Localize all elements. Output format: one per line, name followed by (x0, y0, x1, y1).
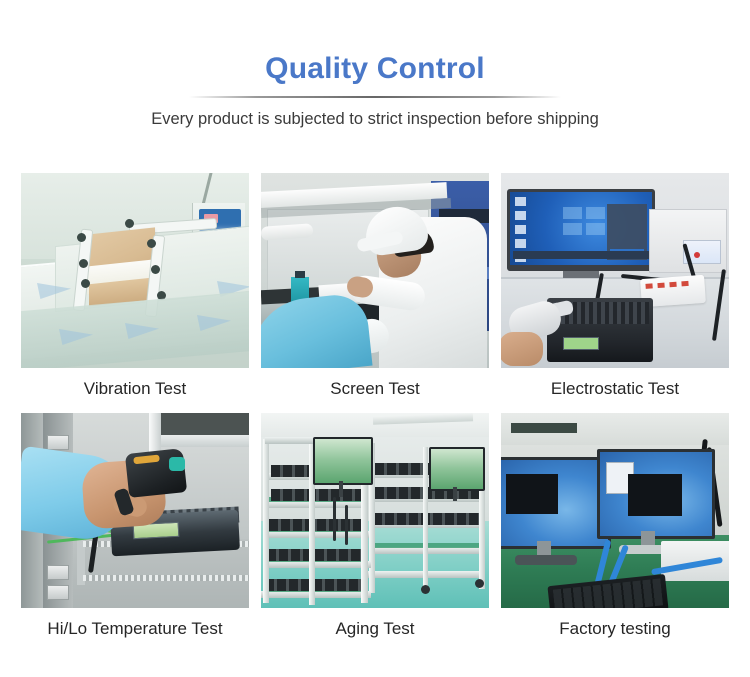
gallery-cell-electrostatic-test: vilma Electrostatic Test (501, 173, 729, 401)
photo-caption: Screen Test (261, 368, 489, 401)
screen-test-photo (261, 173, 489, 368)
electrostatic-test-photo: vilma (501, 173, 729, 368)
vibration-test-photo (21, 173, 249, 368)
factory-testing-photo (501, 413, 729, 608)
quality-control-gallery: Vibration Test Screen Test (21, 173, 729, 641)
page-subtitle: Every product is subjected to strict ins… (0, 108, 750, 130)
photo-caption: Factory testing (501, 608, 729, 641)
page-header: Quality Control Every product is subject… (0, 0, 750, 130)
photo-caption: Vibration Test (21, 368, 249, 401)
gallery-cell-hi-lo-temperature-test: Hi/Lo Temperature Test (21, 413, 249, 641)
photo-caption: Hi/Lo Temperature Test (21, 608, 249, 641)
title-divider (189, 96, 561, 98)
gallery-row-1: Vibration Test Screen Test (21, 173, 729, 401)
gallery-cell-screen-test: Screen Test (261, 173, 489, 401)
photo-caption: Aging Test (261, 608, 489, 641)
aging-test-photo (261, 413, 489, 608)
gallery-row-2: Hi/Lo Temperature Test (21, 413, 729, 641)
photo-caption: Electrostatic Test (501, 368, 729, 401)
hi-lo-temperature-test-photo (21, 413, 249, 608)
gallery-cell-vibration-test: Vibration Test (21, 173, 249, 401)
gallery-cell-aging-test: Aging Test (261, 413, 489, 641)
page-title: Quality Control (0, 50, 750, 88)
gallery-cell-factory-testing: Factory testing (501, 413, 729, 641)
